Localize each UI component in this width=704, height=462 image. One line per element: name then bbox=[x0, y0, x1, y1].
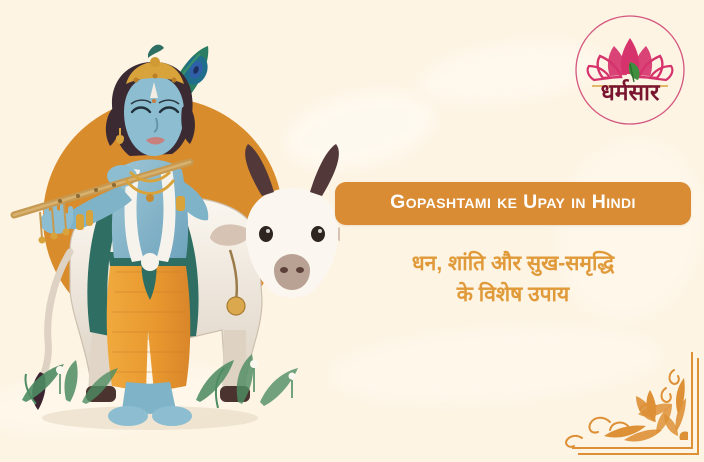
page-title: Gopashtami ke Upay in Hindi bbox=[335, 182, 691, 225]
cow-eye bbox=[311, 226, 325, 242]
logo-text: धर्मसार bbox=[601, 78, 661, 105]
cow-bell-icon bbox=[227, 297, 245, 315]
cow-eye bbox=[259, 226, 273, 242]
subtitle-line-1: धन, शांति और सुख-समृद्धि bbox=[335, 249, 691, 279]
subtitle-line-2: के विशेष उपाय bbox=[335, 280, 691, 310]
krishna-foot bbox=[152, 406, 192, 426]
floral-corner-ornament bbox=[564, 344, 704, 462]
krishna-foot bbox=[108, 406, 148, 426]
krishna-with-cow-illustration bbox=[0, 0, 340, 462]
festival-banner: धर्मसार Gopashtami ke Upay in Hindi धन, … bbox=[0, 0, 704, 462]
crown-icon bbox=[126, 45, 184, 84]
lotus-icon bbox=[588, 38, 673, 86]
dharmsar-logo[interactable]: धर्मसार bbox=[572, 12, 688, 128]
heading-block: Gopashtami ke Upay in Hindi धन, शांति और… bbox=[335, 182, 691, 310]
